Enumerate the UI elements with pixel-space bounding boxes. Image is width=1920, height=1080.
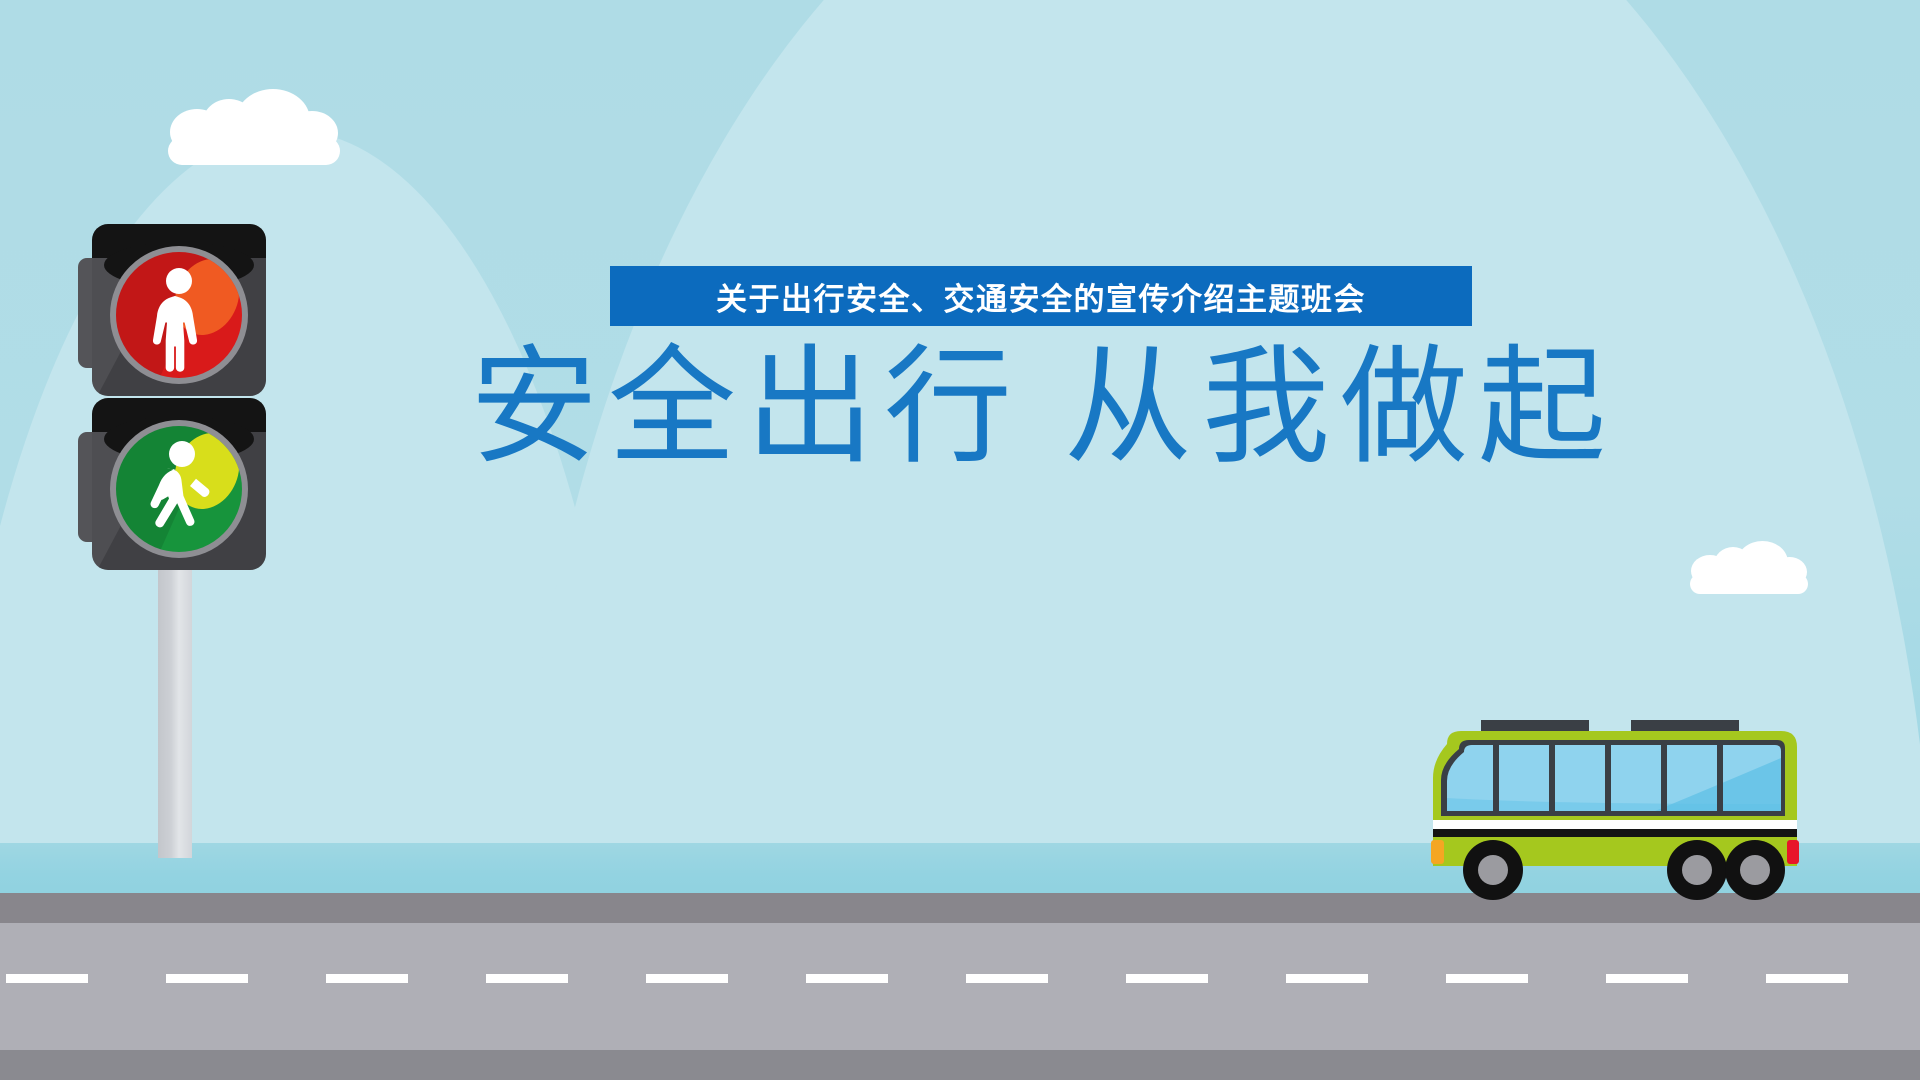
- road-bottom-band: [0, 1050, 1920, 1080]
- bus-wheel-rear-1: [1667, 840, 1727, 900]
- lane-dash: [646, 974, 728, 983]
- bus-wheel-front: [1463, 840, 1523, 900]
- slide-canvas: 关于出行安全、交通安全的宣传介绍主题班会 安全出行 从我做起: [0, 0, 1920, 1080]
- subtitle-banner: 关于出行安全、交通安全的宣传介绍主题班会: [610, 266, 1472, 326]
- lane-dash-row: [0, 974, 1920, 983]
- standing-pedestrian-icon: [116, 252, 242, 378]
- pedestrian-traffic-light: [78, 228, 288, 858]
- lane-dash: [806, 974, 888, 983]
- green-walk-lamp[interactable]: [78, 402, 266, 570]
- red-stop-lamp[interactable]: [78, 228, 266, 396]
- bus-stripe-white: [1433, 820, 1797, 829]
- bus-roof-vent: [1481, 720, 1589, 731]
- cloud-large-left: [168, 105, 340, 165]
- lane-dash: [1286, 974, 1368, 983]
- bus-wheel-rear-2: [1725, 840, 1785, 900]
- bus-window-mullion: [1661, 745, 1667, 811]
- lane-dash: [1446, 974, 1528, 983]
- traffic-light-pole: [158, 558, 192, 858]
- lane-dash: [1126, 974, 1208, 983]
- lane-dash: [326, 974, 408, 983]
- bus-window-mullion: [1493, 745, 1499, 811]
- lane-dash: [966, 974, 1048, 983]
- bus-front-marker-light: [1431, 840, 1444, 864]
- bus-tail-light: [1787, 840, 1799, 864]
- bus-window-mullion: [1549, 745, 1555, 811]
- lane-dash: [486, 974, 568, 983]
- cloud-small-right: [1690, 551, 1808, 594]
- lane-dash: [6, 974, 88, 983]
- cloud-base: [168, 137, 340, 165]
- bus-window-mullion: [1717, 745, 1723, 811]
- lamp-lens-red: [116, 252, 242, 378]
- walking-pedestrian-icon: [116, 426, 242, 552]
- road-surface: [0, 923, 1920, 1050]
- lane-dash: [1766, 974, 1848, 983]
- bus-window-mullion: [1605, 745, 1611, 811]
- page-title: 安全出行 从我做起: [470, 338, 1470, 478]
- lane-dash: [1606, 974, 1688, 983]
- city-bus: [1425, 718, 1817, 914]
- subtitle-text: 关于出行安全、交通安全的宣传介绍主题班会: [716, 274, 1366, 319]
- bus-roof-vent: [1631, 720, 1739, 731]
- bus-stripe-black: [1433, 829, 1797, 837]
- cloud-base: [1690, 574, 1808, 594]
- lane-dash: [166, 974, 248, 983]
- lamp-lens-green: [116, 426, 242, 552]
